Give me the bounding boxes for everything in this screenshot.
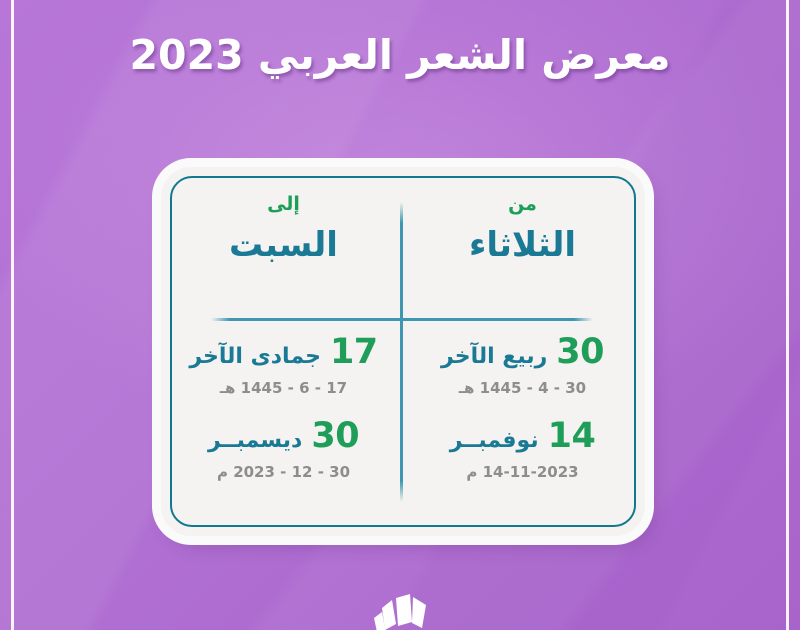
start-day-section: من الثلاثاء: [405, 195, 640, 262]
end-gregorian-main: 30 ديسمبــر: [166, 419, 401, 454]
poster-title: معرض الشعر العربي 2023: [0, 30, 800, 81]
date-card: من الثلاثاء إلى السبت 30 ربيع الآخر 30 -…: [161, 167, 645, 536]
end-hijri-full: 17 - 6 - 1445 هـ: [166, 379, 401, 397]
start-hijri-date: 30 ربيع الآخر 30 - 4 - 1445 هـ: [405, 335, 640, 397]
start-hijri-full: 30 - 4 - 1445 هـ: [405, 379, 640, 397]
end-hijri-day: 17: [330, 335, 378, 370]
horizontal-divider: [211, 318, 593, 321]
start-day-name: الثلاثاء: [405, 228, 640, 262]
left-edge-stripe: [11, 0, 14, 630]
start-gregorian-day: 14: [548, 419, 596, 454]
start-hijri-month: ربيع الآخر: [441, 346, 547, 368]
end-gregorian-day: 30: [311, 419, 359, 454]
end-gregorian-month: ديسمبــر: [208, 430, 302, 452]
end-gregorian-date: 30 ديسمبــر 30 - 12 - 2023 م: [166, 419, 401, 481]
organization-logo-icon: [352, 578, 448, 630]
end-preposition-label: إلى: [166, 195, 401, 214]
end-day-section: إلى السبت: [166, 195, 401, 262]
start-hijri-main: 30 ربيع الآخر: [405, 335, 640, 370]
end-hijri-month: جمادى الآخر: [189, 346, 321, 368]
start-gregorian-main: 14 نوفمبــر: [405, 419, 640, 454]
start-preposition-label: من: [405, 195, 640, 214]
end-day-name: السبت: [166, 228, 401, 262]
end-hijri-main: 17 جمادى الآخر: [166, 335, 401, 370]
start-gregorian-month: نوفمبــر: [450, 430, 539, 452]
end-hijri-date: 17 جمادى الآخر 17 - 6 - 1445 هـ: [166, 335, 401, 397]
poster-canvas: معرض الشعر العربي 2023 من الثلاثاء إلى ا…: [0, 0, 800, 630]
end-gregorian-full: 30 - 12 - 2023 م: [166, 463, 401, 481]
right-edge-stripe: [786, 0, 789, 630]
start-gregorian-date: 14 نوفمبــر 14-11-2023 م: [405, 419, 640, 481]
start-gregorian-full: 14-11-2023 م: [405, 463, 640, 481]
start-hijri-day: 30: [556, 335, 604, 370]
